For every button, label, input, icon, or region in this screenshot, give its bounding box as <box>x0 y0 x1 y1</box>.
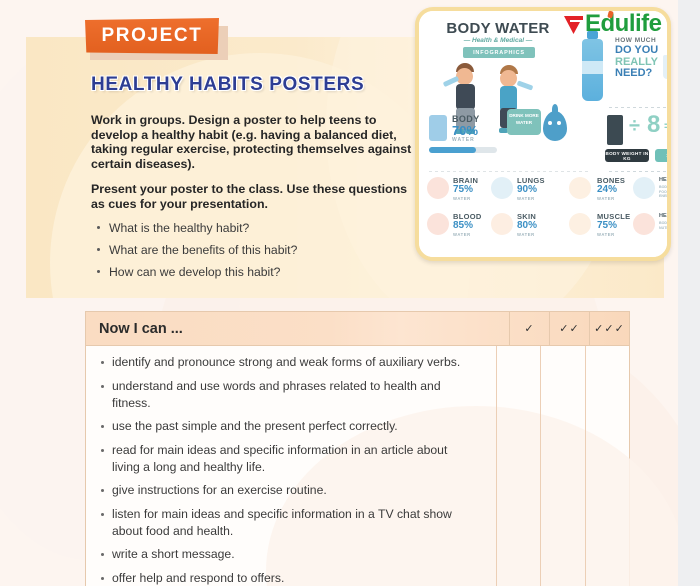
divider-dots-1 <box>609 107 671 108</box>
table-body: identify and pronounce strong and weak f… <box>86 346 629 586</box>
edulife-logo[interactable]: Edulife <box>563 11 662 37</box>
intestine-icon <box>633 213 655 235</box>
helps-sub: BODY ABSORB NUTRIENTS <box>659 221 671 230</box>
organ-unit: WATER <box>597 196 615 201</box>
organ-unit: WATER <box>597 232 615 237</box>
table-row: listen for main ideas and specific infor… <box>86 506 486 540</box>
infographic-title: BODY WATER <box>433 20 563 37</box>
bones-icon <box>569 177 591 199</box>
water-bottle-label <box>582 61 603 74</box>
page-right-gutter <box>678 0 700 586</box>
brain-icon <box>427 177 449 199</box>
now-i-can-table: Now I can ... ✓ ✓✓ ✓✓✓ identify and pron… <box>85 311 630 586</box>
organ-pct: 75% <box>453 184 473 195</box>
lungs-icon <box>491 177 513 199</box>
blood-icon <box>427 213 449 235</box>
helps-title: HELPS <box>659 213 671 219</box>
need-line-3: NEED? <box>615 68 658 80</box>
list-item: What is the healthy habit? <box>95 217 415 239</box>
table-column-3[interactable] <box>585 346 629 586</box>
speech-bubble: DRINK MORE WATER <box>507 109 541 135</box>
divide-symbol: ÷ <box>629 115 640 138</box>
edulife-mark-icon <box>563 14 584 35</box>
weight-scale-icon <box>607 115 623 145</box>
table-row: offer help and respond to offers. <box>86 570 486 586</box>
table-header-check-3[interactable]: ✓✓✓ <box>589 312 629 345</box>
body-water-infographic: BODY WATER — Health & Medical — INFOGRAP… <box>415 7 671 261</box>
edulife-wordmark: Edulife <box>585 12 662 36</box>
skin-icon <box>491 213 513 235</box>
chip-body-weight: BODY WEIGHT IN KG <box>605 149 649 162</box>
table-header-row: Now I can ... ✓ ✓✓ ✓✓✓ <box>86 312 629 346</box>
infographic-need: DO YOU REALLY NEED? <box>615 45 658 80</box>
equals-symbol: = <box>664 119 671 133</box>
can-do-list: identify and pronounce strong and weak f… <box>86 346 486 586</box>
helps-title: HELPS <box>659 177 671 183</box>
table-column-1[interactable] <box>496 346 540 586</box>
need-line-1: DO YOU <box>615 45 658 57</box>
body-stat-unit: WATER <box>452 137 475 143</box>
page-title: HEALTHY HABITS POSTERS <box>91 74 364 96</box>
muscle-icon <box>569 213 591 235</box>
project-instruction-2: Present your poster to the class. Use th… <box>91 182 421 211</box>
table-row: understand and use words and phrases rel… <box>86 378 486 412</box>
body-silhouette-icon <box>429 115 447 141</box>
infographic-howmuch: HOW MUCH <box>615 37 656 44</box>
list-item: How can we develop this habit? <box>95 261 415 283</box>
project-instruction-1: Work in groups. Design a poster to help … <box>91 113 421 171</box>
organ-pct: 75% <box>597 220 617 231</box>
table-row: give instructions for an exercise routin… <box>86 482 486 499</box>
table-row: write a short message. <box>86 546 486 563</box>
water-droplet-mascot-icon <box>543 111 567 141</box>
table-header-check-2[interactable]: ✓✓ <box>549 312 589 345</box>
organ-pct: 80% <box>517 220 537 231</box>
organ-pct: 90% <box>517 184 537 195</box>
table-column-2[interactable] <box>540 346 584 586</box>
table-header-title: Now I can ... <box>86 312 509 345</box>
infographic-tag: INFOGRAPHICS <box>463 47 535 58</box>
stomach-icon <box>633 177 655 199</box>
helps-sub: BODY CONVERT FOOD INTO ENERGY <box>659 185 671 199</box>
divide-number: 8 <box>647 111 660 139</box>
table-row: read for main ideas and specific informa… <box>86 442 486 476</box>
project-ribbon-label: PROJECT <box>102 25 203 47</box>
divider-dots-3 <box>429 171 589 172</box>
divider-dots-2 <box>609 171 671 172</box>
project-ribbon: PROJECT <box>85 18 219 54</box>
organ-pct: 24% <box>597 184 617 195</box>
infographic-subtitle: — Health & Medical — <box>433 37 563 44</box>
organ-unit: WATER <box>453 196 471 201</box>
organ-pct: 85% <box>453 220 473 231</box>
organ-unit: WATER <box>517 232 535 237</box>
body-stat-pct: 70% <box>452 123 478 138</box>
table-row: identify and pronounce strong and weak f… <box>86 354 486 371</box>
chip-label: 1 = 8 <box>666 153 671 158</box>
body-stat-bar-fill <box>429 147 476 153</box>
chip-label: BODY WEIGHT IN KG <box>605 151 649 161</box>
chip-glasses: 1 = 8 <box>655 149 671 162</box>
table-header-check-1[interactable]: ✓ <box>509 312 549 345</box>
page-canvas: PROJECT HEALTHY HABITS POSTERS Work in g… <box>0 0 700 586</box>
table-row: use the past simple and the present perf… <box>86 418 486 435</box>
organ-unit: WATER <box>517 196 535 201</box>
project-question-list: What is the healthy habit? What are the … <box>95 217 415 283</box>
organ-unit: WATER <box>453 232 471 237</box>
question-mark-cup-icon: ? <box>663 55 671 79</box>
list-item: What are the benefits of this habit? <box>95 239 415 261</box>
